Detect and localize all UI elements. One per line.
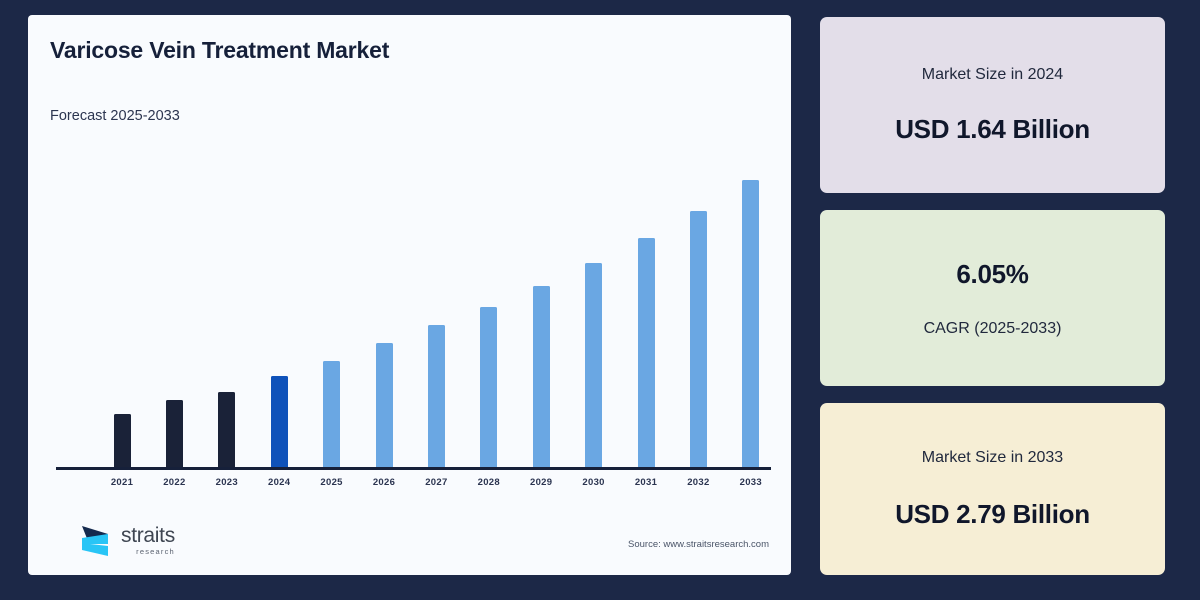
x-tick-2027: 2027 [410,477,462,488]
logo-wordmark: straits [121,525,175,546]
x-tick-2024: 2024 [253,477,305,488]
bar-2028 [480,307,497,467]
kpi-card-market-size-2033[interactable]: Market Size in 2033 USD 2.79 Billion [820,403,1165,575]
logo-subtitle: research [136,548,175,556]
x-tick-2026: 2026 [358,477,410,488]
kpi-card-caption: Market Size in 2024 [922,66,1063,84]
x-tick-2031: 2031 [620,477,672,488]
x-tick-2030: 2030 [568,477,620,488]
infographic-root: Varicose Vein Treatment Market Forecast … [0,0,1200,600]
logo-text: straits research [121,525,175,556]
x-tick-2023: 2023 [201,477,253,488]
bar-2026 [376,343,393,467]
bar-2031 [638,238,655,467]
kpi-card-cagr[interactable]: 6.05% CAGR (2025-2033) [820,210,1165,386]
logo-mark-icon [78,520,114,560]
bar-chart-plot: 2021202220232024202520262027202820292030… [28,15,791,575]
bar-2021 [114,414,131,467]
kpi-card-market-size-2024[interactable]: Market Size in 2024 USD 1.64 Billion [820,17,1165,193]
source-attribution: Source: www.straitsresearch.com [628,539,769,550]
bar-2023 [218,392,235,467]
bar-2032 [690,211,707,467]
bar-2033 [742,180,759,467]
kpi-card-value: 6.05% [956,259,1028,290]
kpi-card-caption: CAGR (2025-2033) [924,320,1062,338]
x-tick-2025: 2025 [306,477,358,488]
x-tick-2032: 2032 [672,477,724,488]
straits-research-logo[interactable]: straits research [78,520,175,560]
bar-2024 [271,376,288,467]
kpi-card-caption: Market Size in 2033 [922,449,1063,467]
bar-2030 [585,263,602,467]
bar-2027 [428,325,445,467]
x-tick-2028: 2028 [463,477,515,488]
x-tick-2033: 2033 [725,477,777,488]
kpi-card-value: USD 1.64 Billion [895,114,1090,145]
bar-2025 [323,361,340,467]
kpi-card-value: USD 2.79 Billion [895,499,1090,530]
chart-panel: Varicose Vein Treatment Market Forecast … [28,15,791,575]
x-axis-line [56,467,771,470]
bar-2029 [533,286,550,467]
x-tick-2021: 2021 [96,477,148,488]
x-tick-2022: 2022 [148,477,200,488]
x-tick-2029: 2029 [515,477,567,488]
bar-2022 [166,400,183,467]
